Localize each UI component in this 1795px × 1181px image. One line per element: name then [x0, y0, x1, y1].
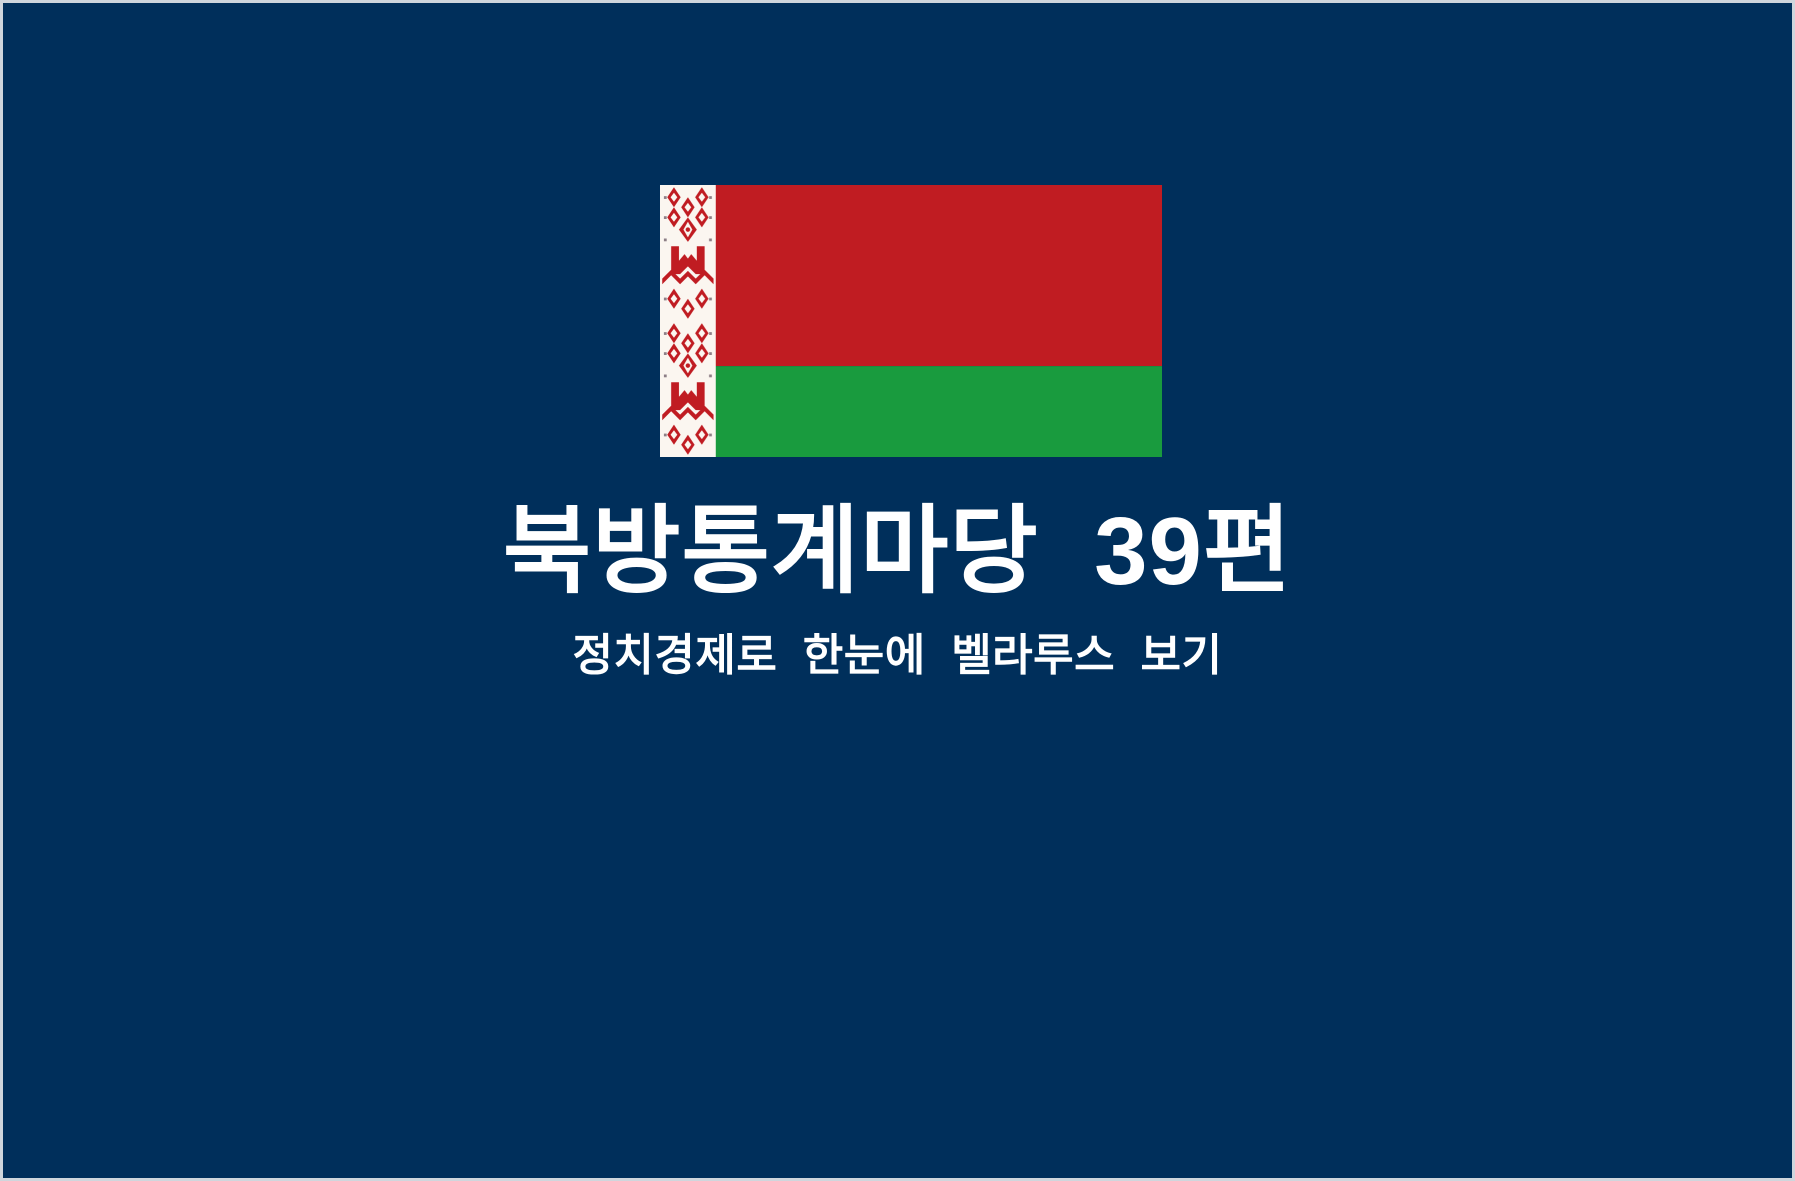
title-block: 북방통계마당 39편 정치경제로 한눈에 벨라루스 보기: [3, 498, 1792, 682]
belarus-flag-icon: [660, 185, 1162, 457]
flag-ornament-stripe: [660, 185, 716, 457]
page-title: 북방통계마당 39편: [3, 498, 1792, 606]
flag-green-band: [660, 366, 1162, 457]
slide-canvas: 북방통계마당 39편 정치경제로 한눈에 벨라루스 보기: [0, 0, 1795, 1181]
belarus-flag: [660, 185, 1162, 457]
page-subtitle: 정치경제로 한눈에 벨라루스 보기: [3, 630, 1792, 683]
flag-red-band: [660, 185, 1162, 366]
